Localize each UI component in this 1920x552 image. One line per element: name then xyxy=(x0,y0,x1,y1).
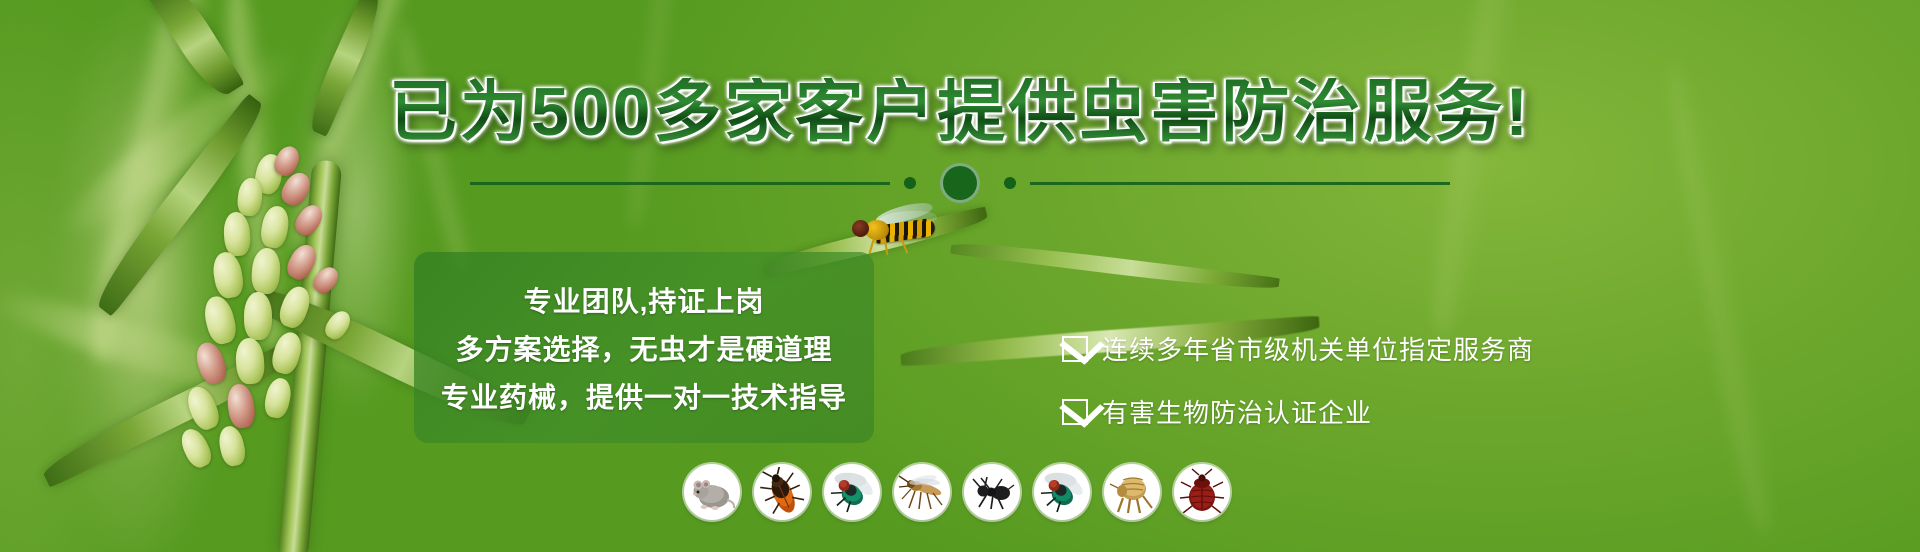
selling-point-1: 专业团队,持证上岗 xyxy=(524,280,765,320)
flea-icon[interactable]: 跳蚤 xyxy=(1104,464,1160,520)
page-title: 已为500多家客户提供虫害防治服务! xyxy=(0,78,1920,146)
selling-point-3: 专业药械，提供一对一技术指导 xyxy=(441,376,847,416)
pest-control-banner: 已为500多家客户提供虫害防治服务! 专业团队,持证上岗 多方案选择，无虫才是硬… xyxy=(0,0,1920,552)
hoverfly-icon xyxy=(845,200,965,260)
list-item: 连续多年省市级机关单位指定服务商 xyxy=(1062,330,1534,367)
divider-dot-small xyxy=(904,177,916,189)
selling-point-2: 多方案选择，无虫才是硬道理 xyxy=(455,328,832,368)
fly-icon[interactable]: 蝇 xyxy=(824,464,880,520)
divider-dot-large xyxy=(940,163,980,203)
mouse-icon[interactable]: 鼠 xyxy=(684,464,740,520)
cockroach-icon[interactable]: 蟑螂 xyxy=(754,464,810,520)
ant-icon[interactable]: 蚁 xyxy=(964,464,1020,520)
mosquito-icon[interactable]: 蚊 xyxy=(894,464,950,520)
selling-points-panel: 专业团队,持证上岗 多方案选择，无虫才是硬道理 专业药械，提供一对一技术指导 xyxy=(414,252,874,443)
divider-dot-small xyxy=(1004,177,1016,189)
blowfly-icon[interactable]: 绿头蝇 xyxy=(1034,464,1090,520)
credential-label: 有害生物防治认证企业 xyxy=(1102,393,1372,430)
divider-line-left xyxy=(470,182,890,185)
divider-line-right xyxy=(1030,182,1450,185)
bedbug-icon[interactable]: 臭虫 xyxy=(1174,464,1230,520)
credential-label: 连续多年省市级机关单位指定服务商 xyxy=(1102,330,1534,367)
credentials-list: 连续多年省市级机关单位指定服务商 有害生物防治认证企业 xyxy=(1062,330,1534,430)
checkbox-checked-icon xyxy=(1062,399,1088,425)
list-item: 有害生物防治认证企业 xyxy=(1062,393,1534,430)
decorative-divider xyxy=(0,163,1920,203)
checkbox-checked-icon xyxy=(1062,336,1088,362)
pest-icon-row: 鼠 蟑螂 xyxy=(684,464,1230,520)
